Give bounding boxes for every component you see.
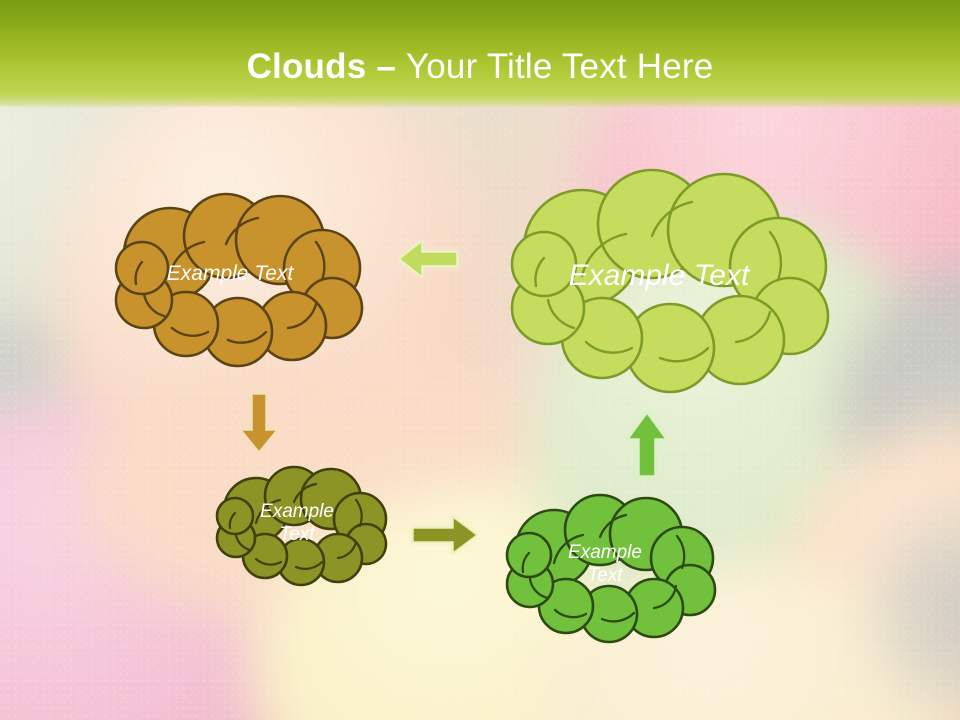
arrow-up[interactable] (620, 408, 674, 480)
slide: Clouds – Your Title Text Here (0, 0, 960, 720)
arrow-down[interactable] (232, 390, 286, 456)
page-title: Clouds – Your Title Text Here (0, 0, 960, 87)
cloud-shape-olive[interactable]: Example Text (212, 466, 392, 584)
cloud-shape-brown[interactable]: Example Text (108, 192, 370, 364)
page-title-dash: – (366, 47, 406, 86)
page-title-strong: Clouds (247, 47, 367, 86)
arrow-left[interactable] (396, 234, 462, 284)
title-bar: Clouds – Your Title Text Here (0, 0, 960, 108)
cloud-shape-green[interactable]: Example Text (502, 168, 838, 390)
page-title-rest: Your Title Text Here (406, 47, 714, 86)
cloud-shape-bright[interactable]: Example Text (502, 492, 720, 640)
arrow-right[interactable] (408, 510, 480, 560)
